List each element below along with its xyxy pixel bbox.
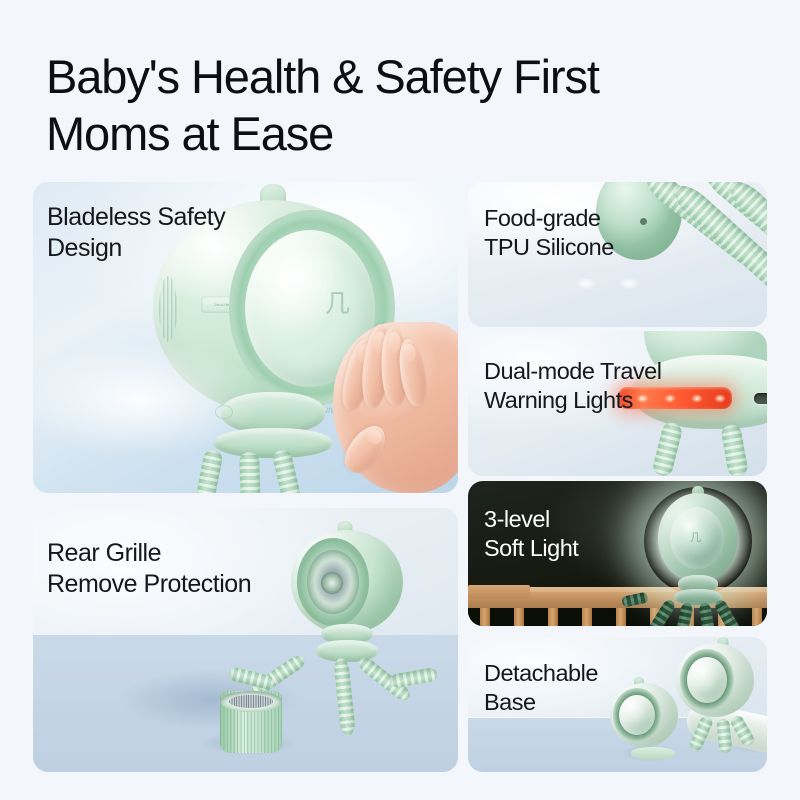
panel-label-line-1: Food-grade: [484, 205, 601, 231]
usb-c-port: [754, 393, 767, 404]
page-title-line-2: Moms at Ease: [46, 105, 746, 162]
fan-logo-jl: 几: [690, 529, 701, 545]
product-fan-upper-unit: [676, 643, 754, 717]
panel-label-three-level-soft-light: 3-level Soft Light: [484, 505, 578, 563]
silicone-leg: [651, 421, 683, 476]
panel-label-rear-grille-remove-protection: Rear Grille Remove Protection: [47, 538, 251, 600]
baby-fingernail: [387, 332, 401, 353]
panel-label-line-2: TPU Silicone: [484, 234, 614, 260]
silicone-leg: [720, 423, 749, 476]
silicone-leg: [195, 448, 224, 493]
panel-food-grade-tpu-silicone[interactable]: Food-grade TPU Silicone: [468, 182, 767, 327]
silicone-leg-dark: [673, 602, 694, 626]
crib-slat: [616, 608, 626, 626]
panel-label-line-1: Bladeless Safety: [47, 203, 225, 231]
panel-label-dual-mode-travel-warning-lights: Dual-mode Travel Warning Lights: [484, 357, 661, 415]
warning-led-dot: [664, 394, 677, 403]
crib-slat: [514, 608, 524, 626]
fan-upper-collar: [468, 637, 514, 655]
warning-led-dot: [691, 394, 704, 403]
fan-neck-collar: [221, 392, 325, 434]
panel-detachable-base[interactable]: Detachable Base: [468, 637, 767, 772]
fan-air-outlet-cone: [619, 695, 655, 735]
crib-corner-post: [468, 585, 530, 599]
page-title-line-1: Baby's Health & Safety First: [46, 50, 599, 103]
baby-thumbnail: [364, 427, 384, 447]
crib-slat: [480, 608, 490, 626]
product-fan-lower-unit: [610, 683, 678, 747]
fan-neck-assembly: [291, 624, 403, 754]
highlight-speck: [620, 278, 639, 289]
baby-hand: [333, 322, 458, 493]
crib-slat: [582, 608, 592, 626]
fan-logo-jl: 几: [325, 284, 350, 320]
detachable-round-base: [631, 747, 675, 760]
silicone-leg: [333, 657, 356, 736]
page-title: Baby's Health & Safety First Moms at Eas…: [46, 48, 746, 162]
warning-led-dot: [714, 394, 727, 403]
panel-label-bladeless-safety-design: Bladeless Safety Design: [47, 202, 225, 264]
silicone-leg: [239, 452, 261, 493]
panel-label-line-1: Rear Grille: [47, 539, 161, 567]
crib-slat: [548, 608, 558, 626]
panel-bladeless-safety-design[interactable]: JisuLife Special 几 JisuLife: [33, 182, 458, 493]
fan-air-outlet-cone: [687, 657, 727, 703]
panel-label-detachable-base: Detachable Base: [484, 659, 598, 717]
fan-motor-hub: [321, 572, 343, 594]
removable-rear-grille: [220, 691, 282, 753]
fan-power-button[interactable]: [215, 405, 233, 419]
panel-label-line-1: Dual-mode Travel: [484, 358, 661, 384]
panel-label-line-2: Design: [47, 234, 122, 262]
hub-screw: [640, 218, 647, 225]
panel-label-line-2: Warning Lights: [484, 387, 633, 413]
fan-side-vent: [159, 276, 177, 342]
panel-label-line-1: 3-level: [484, 506, 550, 532]
panel-label-line-1: Detachable: [484, 660, 598, 686]
panel-label-food-grade-tpu-silicone: Food-grade TPU Silicone: [484, 204, 614, 262]
panel-three-level-soft-light[interactable]: 几 3-level Soft Light: [468, 481, 767, 626]
panel-dual-mode-travel-warning-lights[interactable]: Dual-mode Travel Warning Lights: [468, 331, 767, 476]
fan-neck-assembly: [658, 575, 738, 626]
panel-label-line-2: Remove Protection: [47, 570, 251, 598]
product-fan-rear-view: [291, 530, 403, 634]
crib-slat: [752, 608, 762, 626]
baby-fingernail: [403, 343, 418, 362]
fan-base-collar: [214, 428, 332, 458]
panel-label-line-2: Base: [484, 689, 536, 715]
highlight-speck: [576, 278, 596, 289]
product-fan-night-light: 几: [658, 493, 738, 583]
panel-label-line-2: Soft Light: [484, 535, 578, 561]
panel-rear-grille-remove-protection[interactable]: Rear Grille Remove Protection: [33, 508, 458, 772]
